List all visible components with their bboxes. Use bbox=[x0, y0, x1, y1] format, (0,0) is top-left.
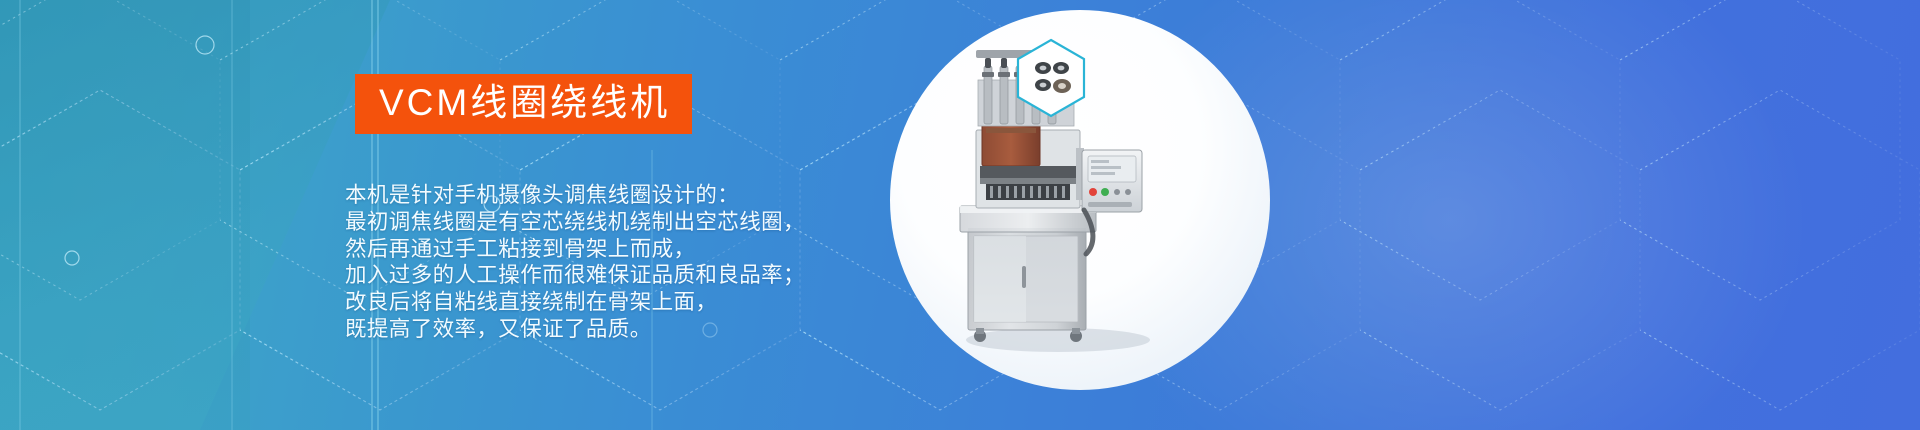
description-block: 本机是针对手机摄像头调焦线圈设计的： 最初调焦线圈是有空芯绕线机绕制出空芯线圈，… bbox=[345, 182, 805, 343]
description-line-1: 本机是针对手机摄像头调焦线圈设计的： bbox=[345, 182, 805, 209]
coil-product-hex-badge bbox=[1015, 38, 1087, 118]
description-line-4: 加入过多的人工操作而很难保证品质和良品率； bbox=[345, 262, 805, 289]
description-line-6: 既提高了效率，又保证了品质。 bbox=[345, 316, 805, 343]
title-badge: VCM线圈绕线机 bbox=[355, 74, 692, 134]
description-line-2: 最初调焦线圈是有空芯绕线机绕制出空芯线圈， bbox=[345, 209, 805, 236]
description-line-5: 改良后将自粘线直接绕制在骨架上面， bbox=[345, 289, 805, 316]
page-title: VCM线圈绕线机 bbox=[379, 84, 670, 121]
banner-text-column: VCM线圈绕线机 本机是针对手机摄像头调焦线圈设计的： 最初调焦线圈是有空芯绕线… bbox=[0, 0, 900, 430]
description-line-3: 然后再通过手工粘接到骨架上而成， bbox=[345, 236, 805, 263]
promo-banner: VCM线圈绕线机 本机是针对手机摄像头调焦线圈设计的： 最初调焦线圈是有空芯绕线… bbox=[0, 0, 1920, 430]
product-image-area bbox=[890, 10, 1290, 410]
